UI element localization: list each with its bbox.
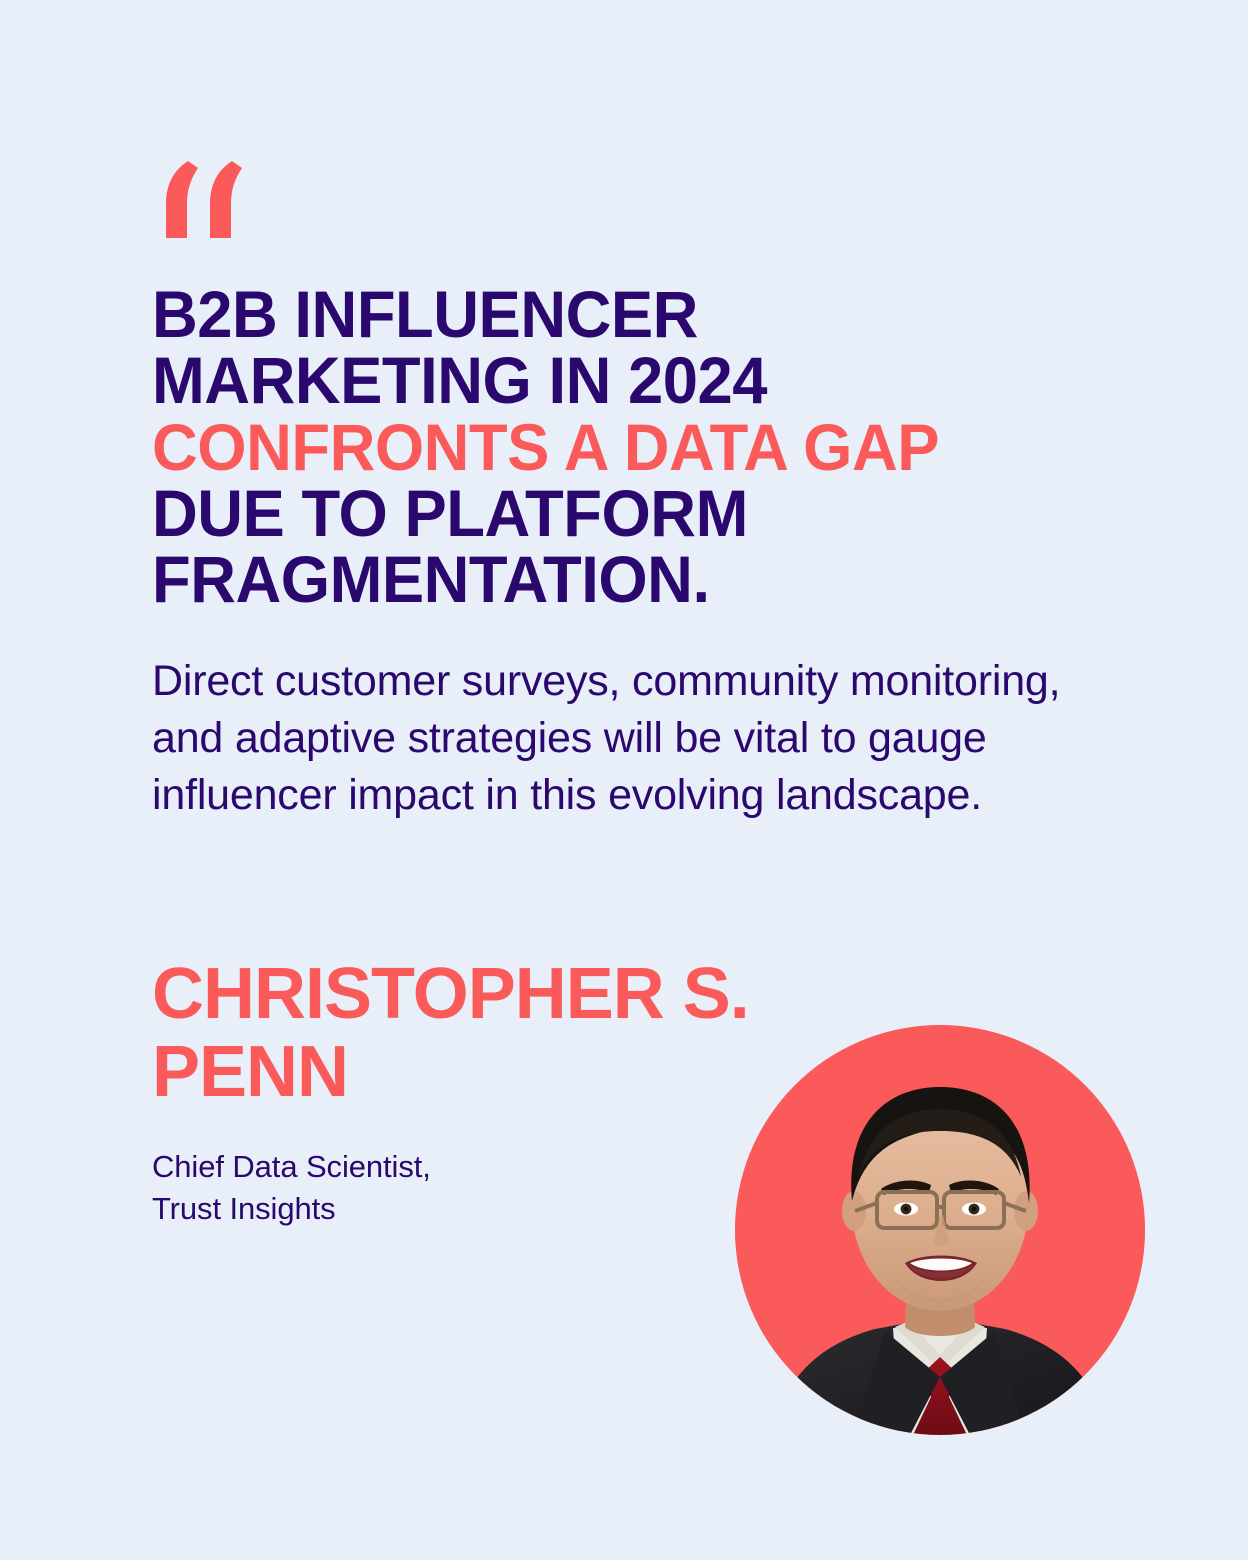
avatar xyxy=(735,1025,1145,1435)
quote-body-text: Direct customer surveys, community monit… xyxy=(152,653,1082,823)
quote-headline: B2B INFLUENCER MARKETING IN 2024 CONFRON… xyxy=(152,281,1054,613)
author-name: CHRISTOPHER S. PENN xyxy=(152,955,812,1112)
double-quote-icon xyxy=(152,160,252,238)
author-role-line-2: Trust Insights xyxy=(152,1191,336,1226)
headline-purple-tail: DUE TO PLATFORM FRAGMENTATION. xyxy=(152,476,748,616)
headline-coral-accent: CONFRONTS A DATA GAP xyxy=(152,410,938,484)
author-role: Chief Data Scientist, Trust Insights xyxy=(152,1146,672,1229)
headline-purple-lead: B2B INFLUENCER MARKETING IN 2024 xyxy=(152,277,767,417)
quote-card: B2B INFLUENCER MARKETING IN 2024 CONFRON… xyxy=(0,0,1248,1560)
portrait-photo xyxy=(735,1025,1145,1435)
author-role-line-1: Chief Data Scientist, xyxy=(152,1149,431,1184)
